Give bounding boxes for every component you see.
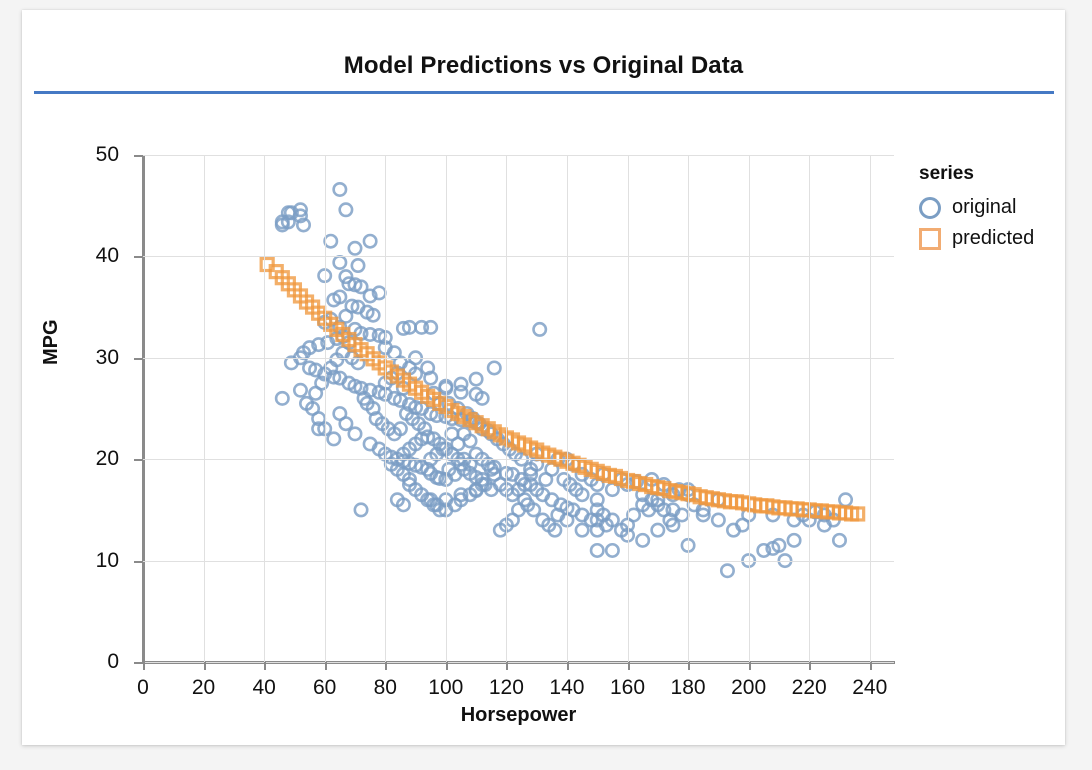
- x-tick-label: 200: [719, 676, 779, 700]
- data-point: [325, 235, 337, 247]
- data-point: [833, 534, 845, 546]
- y-tick: [134, 459, 142, 461]
- y-tick-label: 10: [59, 549, 119, 573]
- x-tick: [688, 662, 690, 670]
- square-marker-icon: [919, 228, 941, 250]
- y-gridline: [143, 459, 894, 460]
- chart-card: Model Predictions vs Original Data MPG H…: [22, 10, 1065, 745]
- x-gridline: [749, 155, 750, 662]
- legend-item-predicted[interactable]: predicted: [919, 223, 1069, 254]
- x-tick: [749, 662, 751, 670]
- y-tick: [134, 662, 142, 664]
- y-tick: [134, 561, 142, 563]
- x-gridline: [264, 155, 265, 662]
- data-point: [721, 565, 733, 577]
- circle-marker-icon: [919, 197, 941, 219]
- x-tick: [446, 662, 448, 670]
- y-tick-label: 20: [59, 447, 119, 471]
- x-tick: [809, 662, 811, 670]
- x-gridline: [688, 155, 689, 662]
- x-tick: [264, 662, 266, 670]
- data-point: [712, 514, 724, 526]
- data-point: [355, 504, 367, 516]
- data-point: [352, 259, 364, 271]
- x-tick-label: 140: [537, 676, 597, 700]
- x-tick-label: 60: [295, 676, 355, 700]
- data-point: [364, 235, 376, 247]
- data-point: [488, 362, 500, 374]
- y-tick-label: 40: [59, 244, 119, 268]
- x-gridline: [204, 155, 205, 662]
- legend-item-original[interactable]: original: [919, 192, 1069, 223]
- x-tick-label: 220: [779, 676, 839, 700]
- x-gridline: [446, 155, 447, 662]
- x-gridline: [325, 155, 326, 662]
- x-tick-label: 100: [416, 676, 476, 700]
- y-tick: [134, 256, 142, 258]
- plot-wrapper: MPG Horsepower 0102030405002040608010012…: [22, 10, 1065, 745]
- x-tick: [870, 662, 872, 670]
- data-point: [334, 256, 346, 268]
- legend-label-predicted: predicted: [952, 227, 1034, 250]
- x-gridline: [628, 155, 629, 662]
- x-tick-label: 240: [840, 676, 900, 700]
- y-gridline: [143, 358, 894, 359]
- x-tick-label: 20: [174, 676, 234, 700]
- y-tick-label: 50: [59, 143, 119, 167]
- x-gridline: [506, 155, 507, 662]
- data-point: [788, 534, 800, 546]
- data-point: [576, 524, 588, 536]
- x-axis-title: Horsepower: [143, 704, 894, 727]
- x-gridline: [567, 155, 568, 662]
- x-tick-label: 80: [355, 676, 415, 700]
- x-tick-label: 180: [658, 676, 718, 700]
- y-gridline: [143, 155, 894, 156]
- data-point: [455, 378, 467, 390]
- data-point: [276, 392, 288, 404]
- data-point: [424, 321, 436, 333]
- data-point: [534, 323, 546, 335]
- y-gridline: [143, 256, 894, 257]
- data-point: [591, 544, 603, 556]
- data-point: [839, 494, 851, 506]
- x-tick: [325, 662, 327, 670]
- data-point: [652, 524, 664, 536]
- series-original: [276, 183, 852, 577]
- plot-area: 0102030405002040608010012014016018020022…: [143, 155, 894, 662]
- legend-label-original: original: [952, 196, 1016, 219]
- x-tick: [143, 662, 145, 670]
- y-gridline: [143, 662, 894, 663]
- y-tick-label: 30: [59, 346, 119, 370]
- x-tick-label: 40: [234, 676, 294, 700]
- x-gridline: [870, 155, 871, 662]
- x-tick: [567, 662, 569, 670]
- data-point: [334, 183, 346, 195]
- data-point: [340, 204, 352, 216]
- data-point: [328, 433, 340, 445]
- y-gridline: [143, 561, 894, 562]
- data-point: [606, 544, 618, 556]
- legend-title: series: [919, 163, 1069, 185]
- page-root: Model Predictions vs Original Data MPG H…: [0, 0, 1092, 770]
- data-point: [636, 534, 648, 546]
- data-point: [349, 242, 361, 254]
- x-tick: [628, 662, 630, 670]
- x-gridline: [809, 155, 810, 662]
- scatter-marks: [143, 155, 894, 662]
- x-tick: [506, 662, 508, 670]
- legend: series original predicted: [919, 163, 1069, 254]
- x-tick-label: 120: [476, 676, 536, 700]
- y-tick-label: 0: [59, 650, 119, 674]
- x-tick-label: 0: [113, 676, 173, 700]
- data-point: [349, 428, 361, 440]
- x-tick: [385, 662, 387, 670]
- data-point: [294, 384, 306, 396]
- data-point: [470, 373, 482, 385]
- x-tick: [204, 662, 206, 670]
- y-tick: [134, 358, 142, 360]
- x-gridline: [385, 155, 386, 662]
- y-tick: [134, 155, 142, 157]
- x-tick-label: 160: [598, 676, 658, 700]
